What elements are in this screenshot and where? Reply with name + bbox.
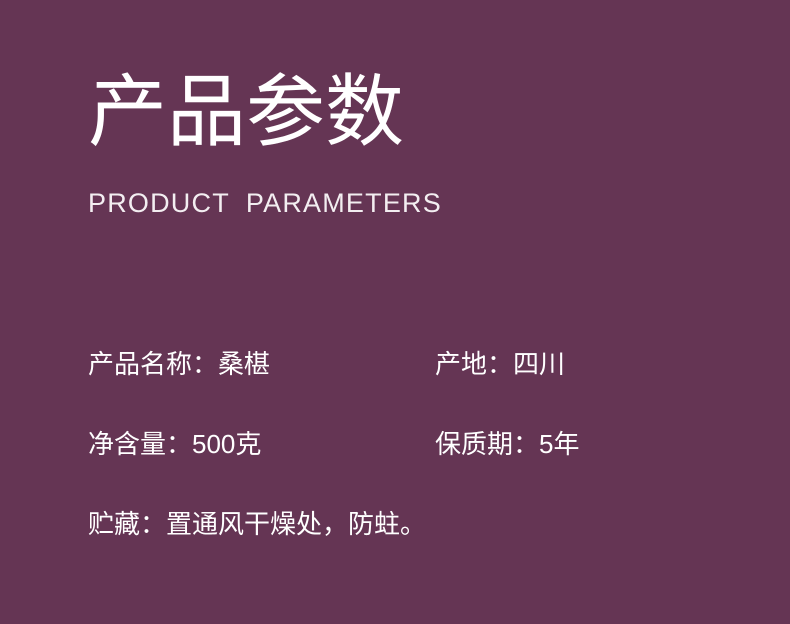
spec-value: 置通风干燥处，防蛀。 xyxy=(166,509,426,539)
heading-block: 产品参数 PRODUCTPARAMETERS xyxy=(88,62,442,218)
spec-row: 产品名称：桑椹 产地：四川 xyxy=(88,345,708,425)
spec-list: 产品名称：桑椹 产地：四川 净含量：500克 保质期：5年 贮藏：置通风干燥处，… xyxy=(88,345,708,585)
spec-item-net-weight: 净含量：500克 xyxy=(88,425,261,463)
spec-label: 产品名称： xyxy=(88,349,218,379)
spec-label: 保质期： xyxy=(435,429,539,459)
spec-value: 5年 xyxy=(539,429,579,459)
product-parameters-banner: 产品参数 PRODUCTPARAMETERS 产品名称：桑椹 产地：四川 净含量… xyxy=(0,0,790,624)
spec-item-shelf-life: 保质期：5年 xyxy=(435,425,579,463)
spec-label: 净含量： xyxy=(88,429,192,459)
spec-value: 四川 xyxy=(513,349,565,379)
spec-label: 产地： xyxy=(435,349,513,379)
spec-label: 贮藏： xyxy=(88,509,166,539)
spec-item-storage: 贮藏：置通风干燥处，防蛀。 xyxy=(88,505,426,543)
spec-row: 净含量：500克 保质期：5年 xyxy=(88,425,708,505)
spec-value: 500克 xyxy=(192,429,261,459)
spec-row: 贮藏：置通风干燥处，防蛀。 xyxy=(88,505,708,585)
page-title-en-word-1: PRODUCT xyxy=(88,188,230,218)
spec-value: 桑椹 xyxy=(218,349,270,379)
page-title-en: PRODUCTPARAMETERS xyxy=(88,188,442,218)
page-title-cn: 产品参数 xyxy=(88,62,442,162)
page-title-en-word-2: PARAMETERS xyxy=(246,188,442,218)
spec-item-product-name: 产品名称：桑椹 xyxy=(88,345,270,383)
spec-item-origin: 产地：四川 xyxy=(435,345,565,383)
